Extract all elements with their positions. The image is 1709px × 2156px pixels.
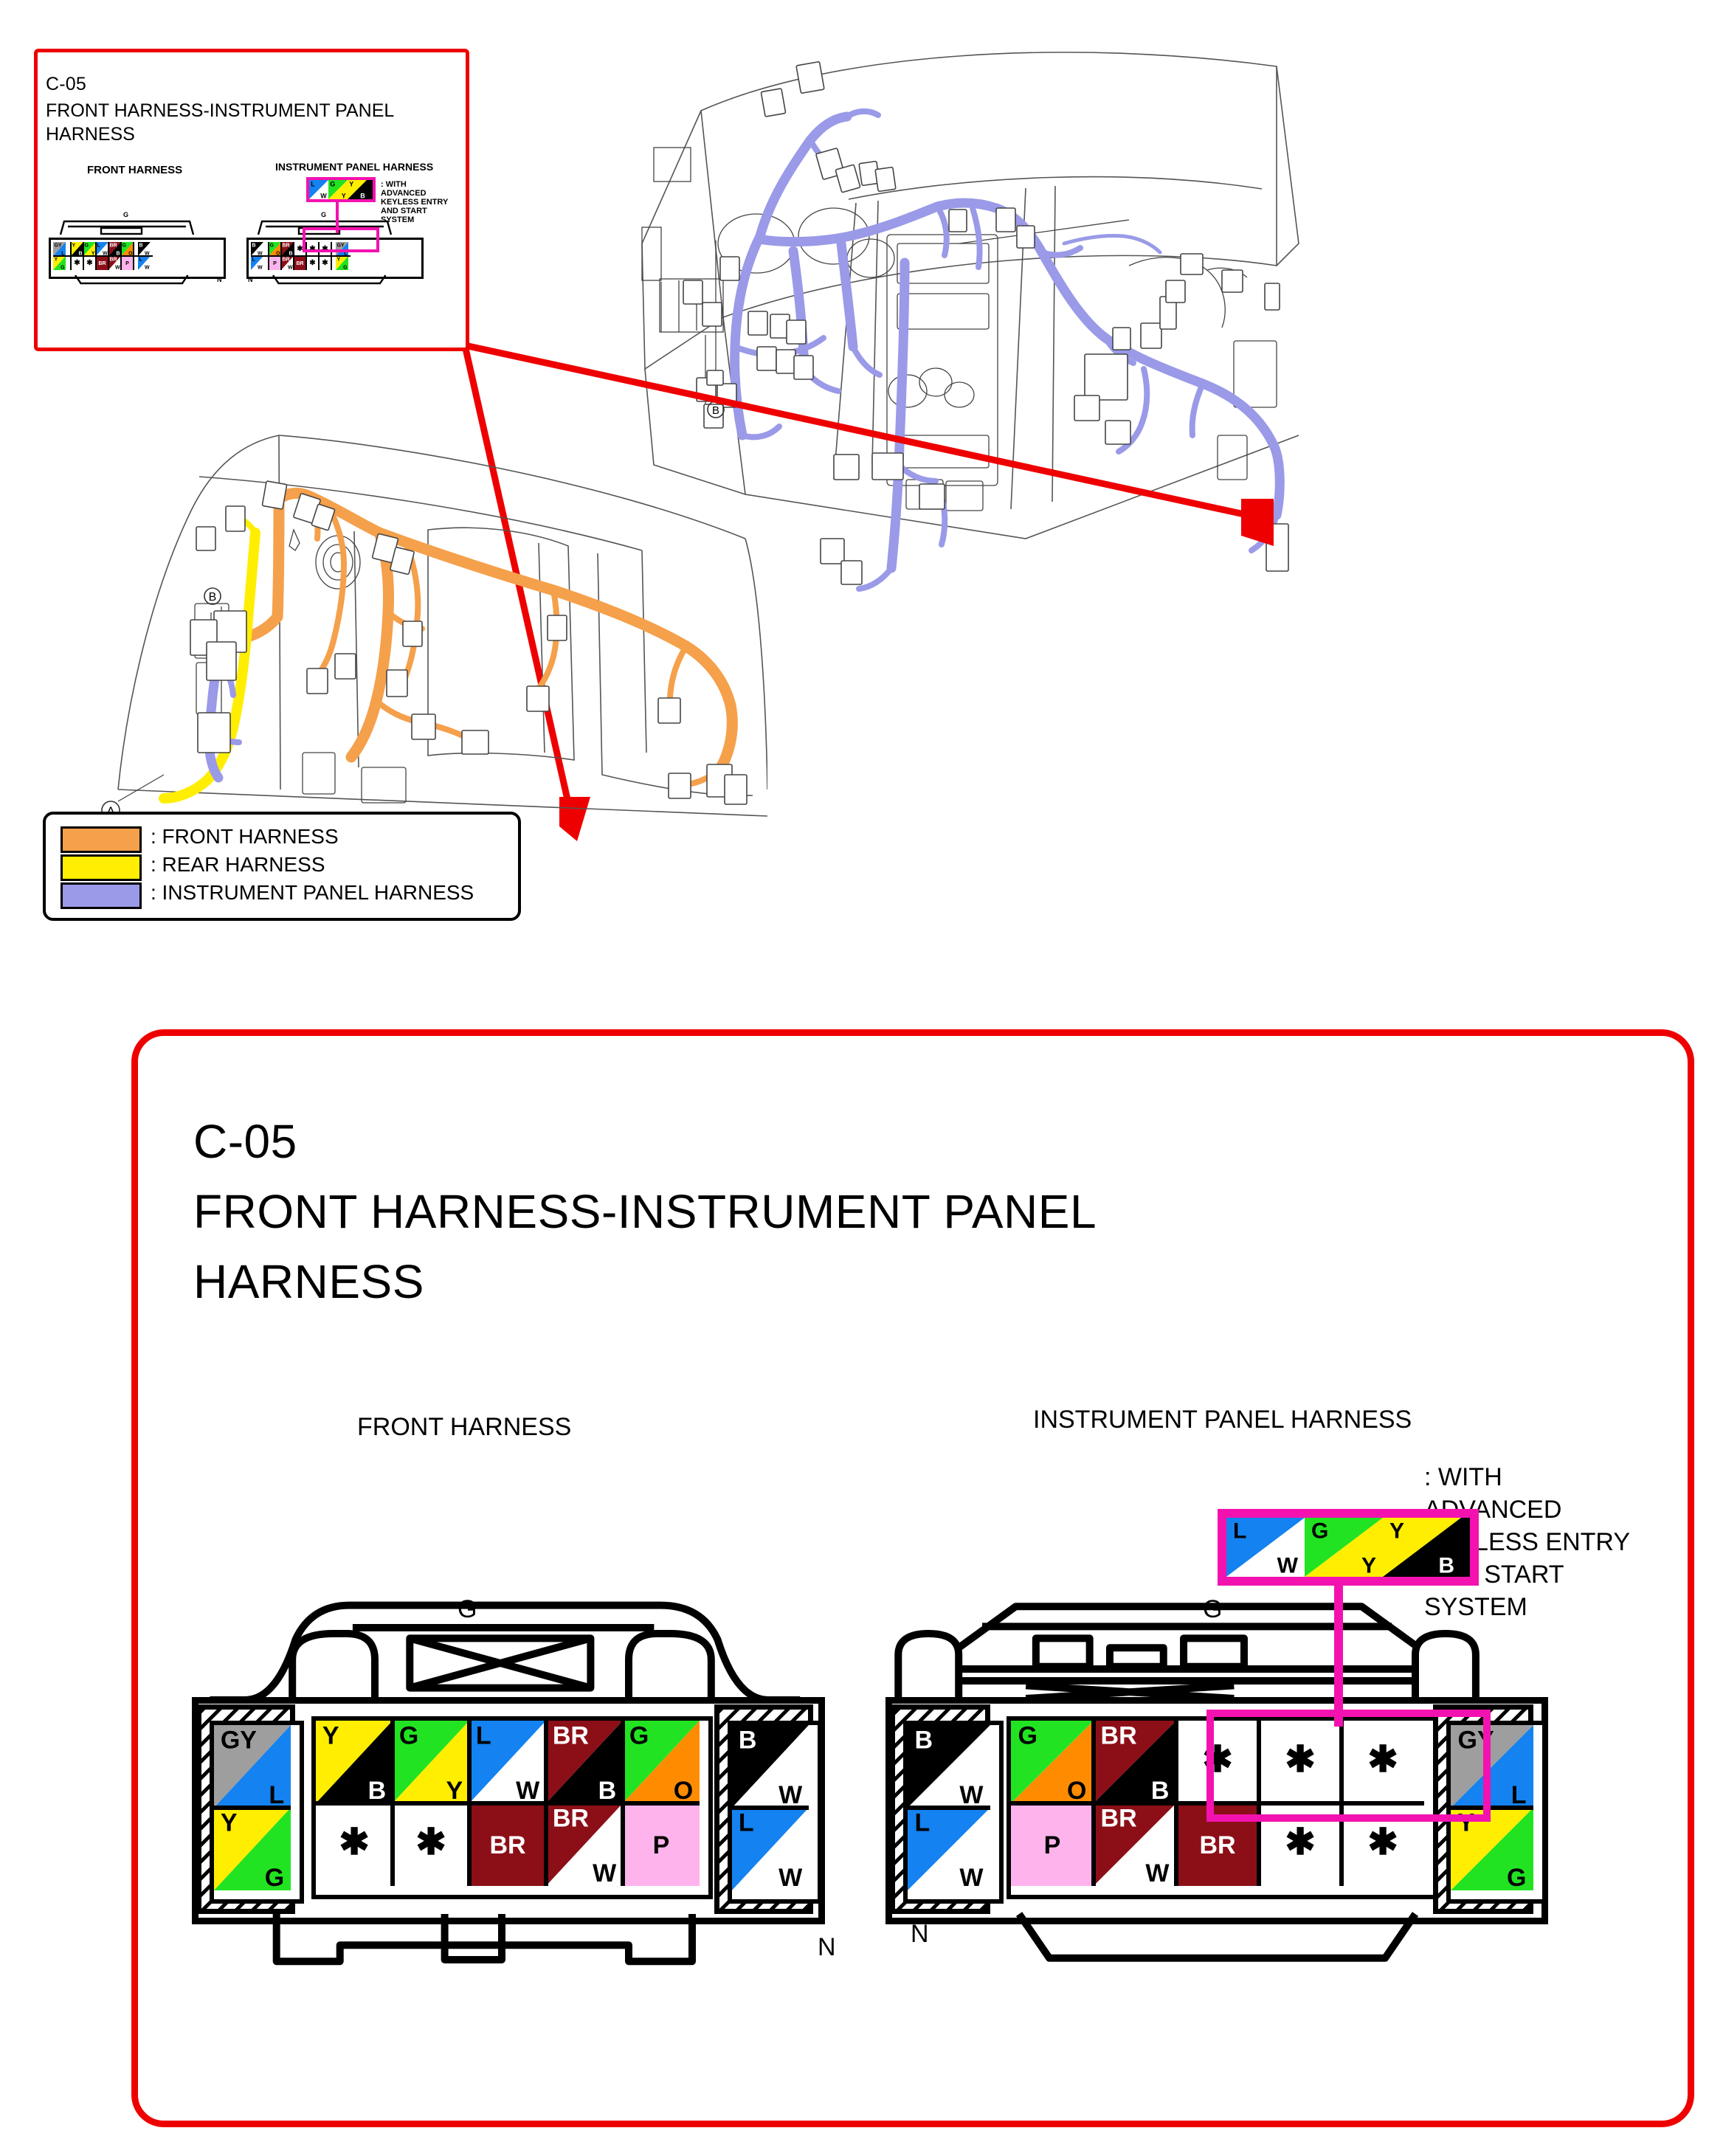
svg-text:GY: GY [54, 243, 61, 248]
left-side-cell-0: BW [908, 1725, 990, 1808]
body-harness-illustration: B A [81, 406, 767, 819]
svg-text:BR: BR [489, 1831, 525, 1859]
mini-center-bottom-1: ✱ [83, 256, 96, 270]
svg-text:G: G [330, 180, 335, 187]
svg-text:Y: Y [1389, 1519, 1404, 1544]
mini-center-top-1: GY [83, 242, 96, 256]
svg-text:✱: ✱ [1285, 1822, 1315, 1862]
mini-center-top-2: LW [96, 242, 108, 256]
svg-text:GY: GY [221, 1726, 257, 1754]
keyless-callout-cell-1: GY [1305, 1518, 1383, 1577]
svg-text:BR: BR [282, 243, 289, 248]
svg-text:Y: Y [221, 1808, 238, 1837]
svg-text:L: L [476, 1721, 491, 1749]
mini-left-cell-0: GYL [53, 242, 66, 256]
svg-text:✱: ✱ [309, 259, 316, 267]
main-label-instrument-panel-harness: INSTRUMENT PANEL HARNESS [1033, 1406, 1412, 1434]
svg-text:L: L [1233, 1519, 1246, 1544]
svg-text:W: W [959, 1864, 984, 1890]
svg-text:BR: BR [109, 243, 117, 248]
svg-text:G: G [399, 1721, 418, 1749]
svg-text:O: O [674, 1777, 693, 1803]
mini-center-bottom-3: ✱ [306, 256, 319, 270]
harness-color-legend: : FRONT HARNESS : REAR HARNESS : INSTRUM… [43, 812, 521, 921]
connector-latch-skirt [184, 1911, 819, 1992]
svg-text:BR: BR [98, 261, 106, 266]
svg-text:BR: BR [553, 1721, 589, 1749]
svg-text:Y: Y [72, 243, 75, 248]
grid-line-horizontal [316, 1801, 700, 1806]
right-side-cell-1: LW [732, 1808, 809, 1890]
left-side-cell-1: YG [214, 1808, 291, 1890]
svg-text:✱: ✱ [1367, 1822, 1398, 1862]
inset-title-line1: FRONT HARNESS-INSTRUMENT PANEL [46, 100, 394, 122]
mini-left-cell-1: YG [53, 256, 66, 270]
svg-text:G: G [629, 1721, 649, 1749]
svg-text:W: W [593, 1859, 617, 1886]
svg-text:W: W [778, 1781, 803, 1808]
svg-text:G: G [61, 266, 65, 270]
inset-note-l3: KEYLESS ENTRY [381, 198, 452, 207]
mini-center-bottom-4: P [121, 256, 134, 270]
svg-text:W: W [1277, 1554, 1299, 1577]
center-bottom-cell-1: BRW [1094, 1803, 1176, 1886]
svg-text:B: B [1438, 1554, 1454, 1577]
svg-text:L: L [915, 1808, 931, 1837]
svg-text:B: B [1151, 1777, 1170, 1803]
mini-center-bottom-3: BRW [108, 256, 121, 270]
svg-text:✱: ✱ [339, 1822, 369, 1862]
left-side-divider [908, 1806, 990, 1810]
inset-connector-code: C-05 [46, 74, 86, 95]
svg-text:G: G [343, 266, 348, 270]
mini-left-cell-0: BW [251, 242, 263, 256]
keying-label-n: N [818, 1933, 836, 1962]
mini-left-cell-1: LW [251, 256, 263, 270]
legend-label-front-harness: : FRONT HARNESS [151, 825, 339, 849]
svg-text:BR: BR [1101, 1721, 1137, 1749]
svg-text:BR: BR [553, 1804, 589, 1832]
main-connector-code: C-05 [193, 1114, 297, 1169]
keyless-entry-callout: LWGYYB [1218, 1509, 1513, 1745]
svg-text:W: W [320, 192, 327, 199]
svg-text:G: G [1507, 1864, 1526, 1890]
svg-text:Y: Y [54, 257, 58, 262]
svg-text:W: W [516, 1777, 540, 1803]
svg-text:L: L [1511, 1781, 1527, 1808]
inset-keyless-callout: LWGYYB [306, 177, 387, 207]
mini-grid-line-horizontal [53, 255, 153, 257]
mini-keying-label-g: G [123, 211, 128, 218]
main-label-front-harness: FRONT HARNESS [357, 1413, 571, 1442]
left-side-cell-0: GYL [214, 1725, 291, 1808]
inset-title-line2: HARNESS [46, 124, 135, 145]
mini-center-top-3: BRB [108, 242, 121, 256]
keying-label-n: N [911, 1920, 929, 1949]
center-bottom-cell-3: BRW [546, 1803, 623, 1886]
svg-text:W: W [115, 266, 120, 270]
svg-text:G: G [84, 243, 89, 248]
keying-label-g: G [458, 1595, 477, 1624]
inset-keyless-cell-1: GY [328, 180, 348, 199]
svg-text:L: L [269, 1781, 284, 1808]
legend-swatch-instrument-panel-harness [61, 882, 142, 909]
svg-text:W: W [778, 1864, 803, 1890]
svg-text:G: G [122, 243, 126, 248]
svg-text:L: L [97, 243, 100, 248]
mini-center-bottom-0: ✱ [71, 256, 83, 270]
svg-text:Y: Y [349, 180, 353, 187]
svg-text:B: B [915, 1726, 933, 1754]
front-harness-connector: GGYLYGBWLWYBGYLWBRBGO✱✱BRBRWP N [184, 1586, 819, 1977]
inset-note-l2: ADVANCED [381, 189, 452, 198]
legend-label-rear-harness: : REAR HARNESS [151, 853, 325, 877]
center-top-cell-0: GO [1011, 1721, 1094, 1803]
inset-label-instrument-panel-harness: INSTRUMENT PANEL HARNESS [275, 161, 433, 173]
svg-text:Y: Y [322, 1721, 339, 1749]
inset-keyless-highlight-rect [303, 227, 379, 252]
mini-center-bottom-2: BR [294, 256, 306, 270]
main-note-line-0: : WITH [1424, 1461, 1705, 1493]
svg-text:W: W [1145, 1859, 1170, 1886]
inset-keyless-cell-0: LW [309, 180, 328, 199]
keyless-callout-leader [1334, 1583, 1343, 1727]
svg-text:BR: BR [1101, 1804, 1137, 1832]
left-side-cell-1: LW [908, 1808, 990, 1890]
svg-text:G: G [265, 1864, 284, 1890]
svg-text:B: B [252, 243, 255, 248]
mini-right-cell-0: BW [138, 242, 151, 256]
mini-right-cell-1: YG [336, 256, 348, 270]
mini-center-bottom-2: BR [96, 256, 108, 270]
svg-text:W: W [145, 266, 150, 270]
svg-text:Y: Y [336, 257, 340, 262]
mini-center-bottom-1: BRW [281, 256, 294, 270]
svg-text:L: L [252, 257, 255, 262]
mini-center-top-0: YB [71, 242, 83, 256]
center-bottom-cell-4: P [623, 1803, 700, 1886]
svg-text:BR: BR [109, 257, 117, 262]
center-bottom-cell-1: ✱ [393, 1803, 469, 1886]
svg-text:L: L [139, 257, 142, 262]
main-title-line1: FRONT HARNESS-INSTRUMENT PANEL [193, 1184, 1097, 1239]
svg-text:P: P [273, 261, 277, 266]
legend-swatch-rear-harness [61, 854, 142, 881]
center-top-cell-2: LW [469, 1721, 546, 1803]
mini-center-bottom-0: P [269, 256, 281, 270]
legend-label-instrument-panel-harness: : INSTRUMENT PANEL HARNESS [151, 881, 474, 905]
svg-text:W: W [258, 266, 263, 270]
svg-text:O: O [1067, 1777, 1086, 1803]
keyless-callout-cell-2: YB [1383, 1518, 1461, 1577]
svg-text:Y: Y [342, 192, 346, 199]
main-title-line2: HARNESS [193, 1254, 424, 1309]
center-top-cell-1: GY [393, 1721, 469, 1803]
connector-shroud [184, 1586, 819, 1704]
svg-text:✱: ✱ [322, 259, 328, 267]
svg-text:B: B [360, 192, 365, 199]
svg-text:B: B [139, 243, 142, 248]
svg-text:B: B [739, 1726, 757, 1754]
svg-text:B: B [209, 591, 217, 604]
svg-text:BR: BR [296, 261, 303, 266]
center-bottom-cell-2: BR [469, 1803, 546, 1886]
svg-text:P: P [125, 261, 129, 266]
inset-label-front-harness: FRONT HARNESS [87, 164, 182, 176]
mini-center-top-1: BRB [281, 242, 294, 256]
svg-text:L: L [739, 1808, 754, 1837]
connector-latch-skirt [878, 1911, 1550, 1992]
mini-right-cell-1: LW [138, 256, 151, 270]
svg-text:W: W [959, 1781, 984, 1808]
inset-front-harness-connector: GGYLYGYBGYLWBRBGO✱✱BRBRWPBWLWN [46, 214, 230, 295]
right-side-divider [732, 1806, 809, 1810]
svg-text:BR: BR [1199, 1831, 1235, 1859]
inset-note-l1: : WITH [381, 180, 452, 189]
svg-text:Y: Y [446, 1777, 463, 1803]
mini-center-top-0: GO [269, 242, 281, 256]
svg-text:G: G [1311, 1519, 1328, 1544]
svg-text:✱: ✱ [86, 259, 93, 267]
mini-grid-line-horizontal [251, 255, 351, 257]
svg-text:W: W [288, 266, 293, 270]
inset-keyless-cell-2: YB [348, 180, 367, 199]
center-bottom-cell-0: ✱ [316, 1803, 393, 1886]
center-top-cell-3: BRB [546, 1721, 623, 1803]
center-top-cell-0: YB [316, 1721, 393, 1803]
mini-center-top-4: GO [121, 242, 134, 256]
svg-text:BR: BR [282, 257, 289, 262]
svg-text:P: P [653, 1831, 670, 1859]
keyless-callout-cell-0: LW [1226, 1518, 1305, 1577]
keyless-pin-highlight-rect [1206, 1710, 1491, 1822]
mini-center-bottom-4: ✱ [319, 256, 331, 270]
center-top-cell-4: GO [623, 1721, 700, 1803]
mini-keying-label-g: G [321, 211, 326, 218]
svg-text:✱: ✱ [74, 259, 80, 267]
svg-text:G: G [1018, 1721, 1038, 1749]
svg-text:B: B [598, 1777, 617, 1803]
center-bottom-cell-0: P [1011, 1803, 1094, 1886]
left-side-divider [214, 1806, 291, 1810]
svg-text:G: G [269, 243, 274, 248]
svg-text:P: P [1044, 1831, 1061, 1859]
right-side-cell-0: BW [732, 1725, 809, 1808]
svg-text:Y: Y [1361, 1554, 1376, 1577]
legend-swatch-front-harness [61, 826, 142, 853]
svg-text:B: B [368, 1777, 387, 1803]
svg-text:✱: ✱ [415, 1822, 446, 1862]
center-top-cell-1: BRB [1094, 1721, 1176, 1803]
svg-text:L: L [311, 180, 315, 187]
